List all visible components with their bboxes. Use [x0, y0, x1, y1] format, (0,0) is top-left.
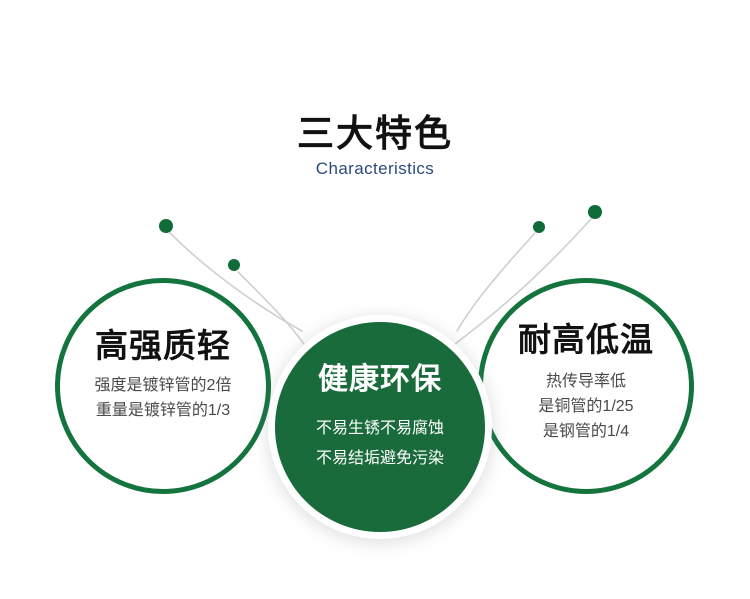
feature-left-body: 强度是镀锌管的2倍 重量是镀锌管的1/3 [95, 373, 232, 423]
dot-left-outer-icon [159, 219, 173, 233]
decorative-dot-group [159, 205, 602, 271]
feature-center-line-2: 不易结垢避免污染 [316, 444, 444, 474]
feature-circle-center: 健康环保 不易生锈不易腐蚀 不易结垢避免污染 [275, 322, 485, 532]
feature-right-line-3: 是钢管的1/4 [538, 419, 633, 444]
feature-left-title: 高强质轻 [95, 327, 231, 365]
feature-circle-right: 耐高低温 热传导率低 是铜管的1/25 是钢管的1/4 [478, 278, 694, 494]
feature-right-body: 热传导率低 是铜管的1/25 是钢管的1/4 [538, 369, 633, 444]
dot-left-inner-icon [228, 259, 240, 271]
feature-right-title: 耐高低温 [518, 321, 654, 359]
feature-center-line-1: 不易生锈不易腐蚀 [316, 414, 444, 444]
dot-right-inner-icon [533, 221, 545, 233]
feature-circle-left: 高强质轻 强度是镀锌管的2倍 重量是镀锌管的1/3 [55, 278, 271, 494]
feature-left-line-2: 重量是镀锌管的1/3 [95, 398, 232, 423]
feature-center-title: 健康环保 [318, 362, 442, 398]
infographic-canvas: 三大特色 Characteristics 高强质轻 强度是镀锌管的2倍 重量是镀… [0, 0, 750, 599]
feature-center-body: 不易生锈不易腐蚀 不易结垢避免污染 [316, 414, 444, 474]
feature-right-line-1: 热传导率低 [538, 369, 633, 394]
feature-right-line-2: 是铜管的1/25 [538, 394, 633, 419]
dot-right-outer-icon [588, 205, 602, 219]
feature-left-line-1: 强度是镀锌管的2倍 [95, 373, 232, 398]
